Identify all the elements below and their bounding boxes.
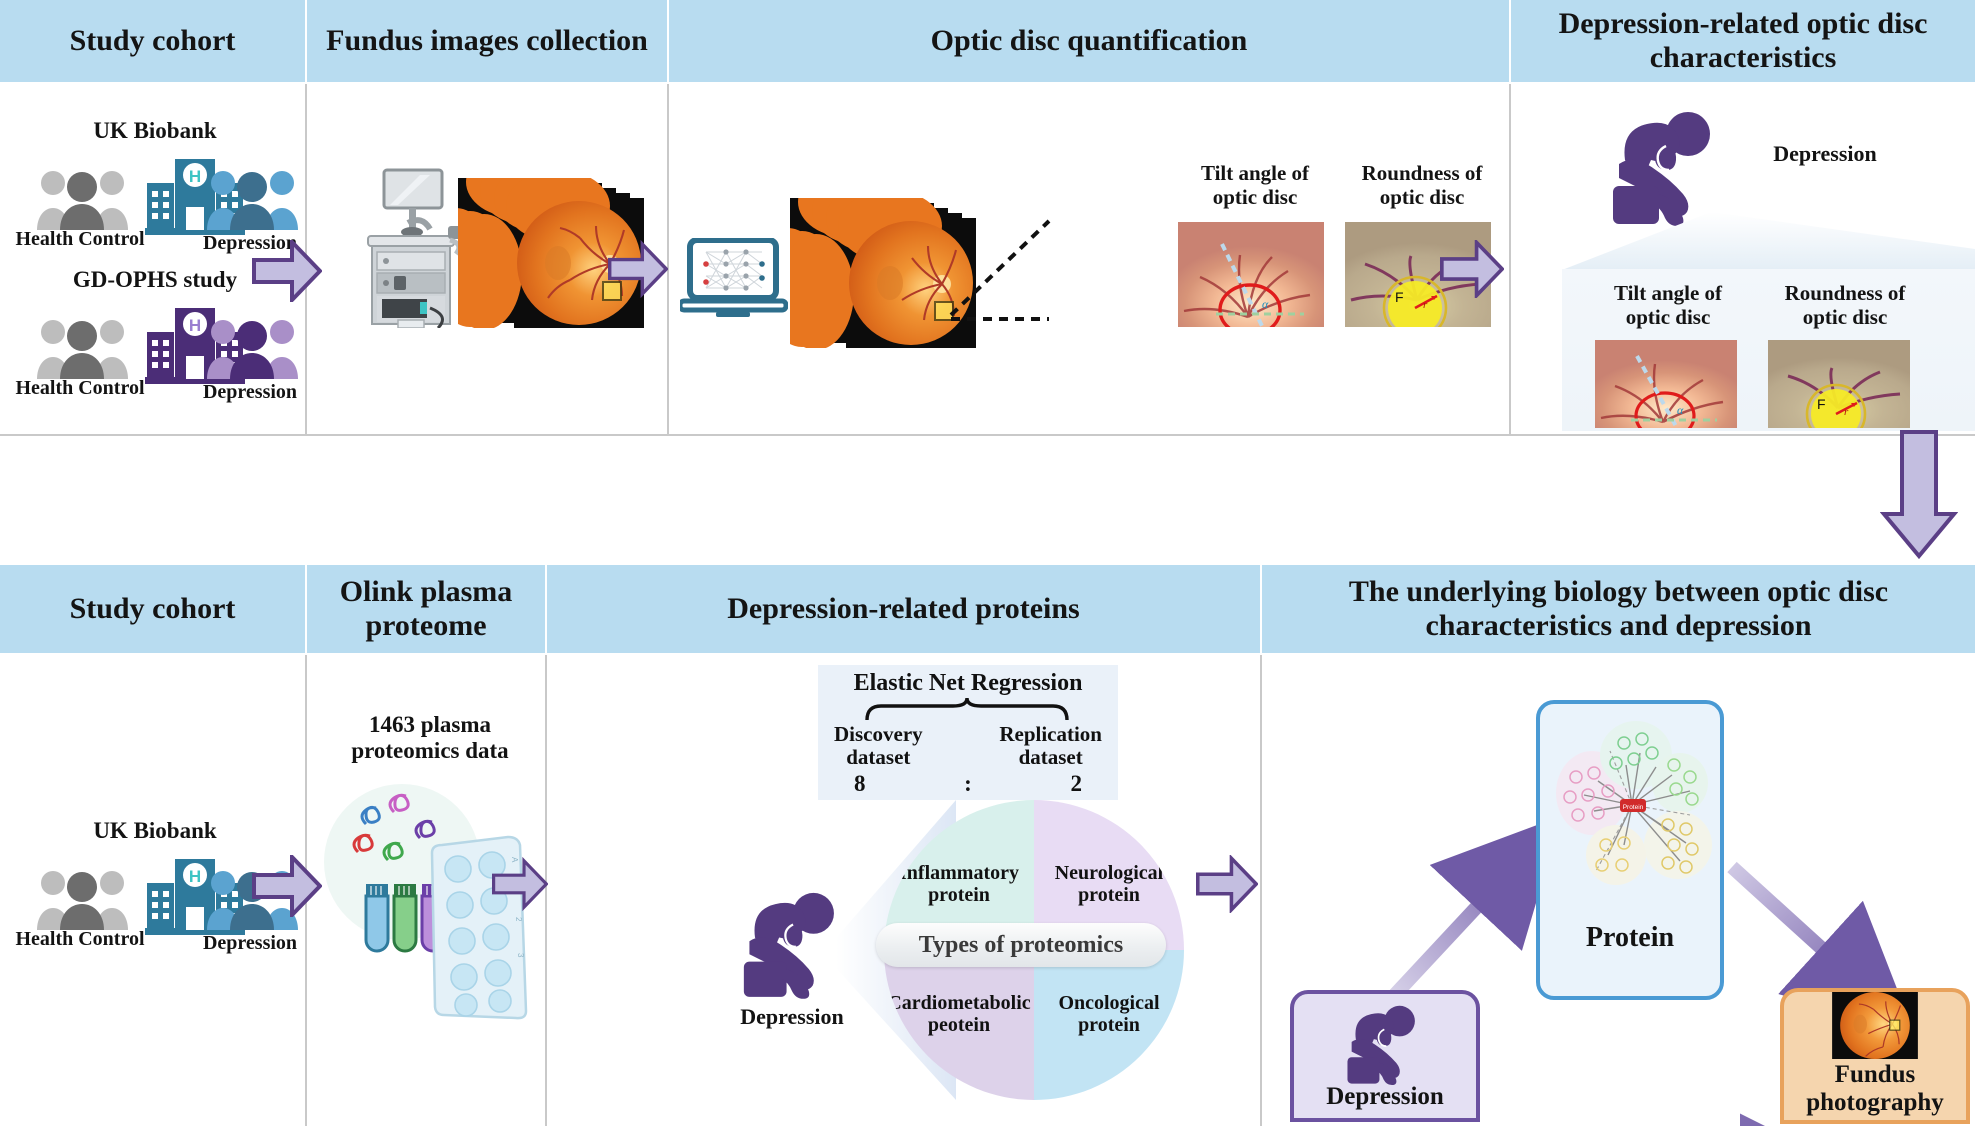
hospital-letter-gdophs: H (189, 316, 201, 335)
row1-header-depression-optic: Depression-related optic disc characteri… (1511, 0, 1975, 82)
row1-header-optic-disc-quant-label: Optic disc quantification (931, 24, 1248, 58)
depression-label-row2: Depression (185, 932, 315, 954)
roundness-radius-symbol-quant: r (1423, 299, 1428, 311)
roundness-radius-symbol-result: r (1844, 406, 1849, 418)
row2-header-depression-proteins: Depression-related proteins (547, 565, 1260, 653)
protein-hub-label: Protein (1623, 804, 1644, 811)
row2-header-olink-label: Olink plasma proteome (315, 575, 537, 642)
hospital-letter-ukb: H (189, 167, 201, 186)
tilt-angle-symbol-result: α (1677, 403, 1684, 417)
discovery-dataset-label: Discovery dataset (834, 723, 923, 768)
protein-box-label: Protein (1586, 923, 1674, 954)
gdophs-title: GD-OPHS study (20, 267, 290, 293)
uk-biobank-title-row2: UK Biobank (20, 818, 290, 844)
tilt-angle-image-quant: α (1178, 222, 1324, 327)
divider-r1-bottom (0, 434, 1975, 436)
protein-network-box: Protein Protein (1536, 700, 1724, 1000)
tilt-angle-label-result: Tilt angle of optic disc (1588, 282, 1748, 329)
health-control-label-ukb: Health Control (5, 228, 155, 250)
depression-label-gdophs: Depression (185, 381, 315, 403)
row1-header-study-cohort-label: Study cohort (70, 24, 236, 58)
depression-people-icon-gdophs (205, 317, 300, 379)
tilt-angle-label-quant: Tilt angle of optic disc (1180, 162, 1330, 209)
row1-header-fundus-collection: Fundus images collection (307, 0, 667, 82)
ai-laptop-icon (680, 238, 788, 328)
discovery-dataset-value: 8 (854, 771, 866, 797)
arrow-proteins-to-biology (1196, 855, 1258, 918)
svg-text:3: 3 (516, 953, 525, 958)
arrow-row1-to-row2 (1880, 430, 1958, 565)
roundness-symbol-quant: F (1395, 289, 1404, 305)
zoom-callout-lines (945, 215, 1055, 330)
arrow-quant-to-result (1440, 240, 1504, 303)
uk-biobank-title: UK Biobank (20, 118, 290, 144)
roundness-image-result: F r (1768, 340, 1910, 428)
row2-header-study-cohort-label: Study cohort (70, 592, 236, 626)
elastic-net-title: Elastic Net Regression (818, 670, 1118, 697)
replication-dataset-label: Replication dataset (999, 723, 1102, 768)
row2-header-study-cohort: Study cohort (0, 565, 305, 653)
hospital-letter-row2: H (189, 867, 201, 886)
depression-people-icon-ukb (205, 168, 300, 230)
health-control-label-gdophs: Health Control (5, 377, 155, 399)
arrow-cohort-to-olink (252, 855, 322, 922)
types-of-proteomics-pill: Types of proteomics (876, 923, 1166, 967)
depression-box-label: Depression (1326, 1083, 1444, 1111)
row1-header-optic-disc-quant: Optic disc quantification (669, 0, 1509, 82)
health-control-people-icon-gdophs (35, 317, 130, 379)
depression-label-proteins: Depression (712, 1005, 872, 1030)
health-control-people-icon-row2 (35, 868, 130, 930)
quadrant-label-cardiometabolic: Cardiometabolic peotein (884, 992, 1034, 1037)
divider-r1-3 (1509, 84, 1511, 434)
row1-header-depression-optic-label: Depression-related optic disc characteri… (1519, 7, 1967, 74)
depression-figure-row2 (742, 888, 846, 1005)
row2-header-underlying-biology: The underlying biology between optic dis… (1262, 565, 1975, 653)
quadrant-label-neurological: Neurological protein (1036, 862, 1182, 907)
figure-root: Study cohort Fundus images collection Op… (0, 0, 1975, 1126)
roundness-symbol-result: F (1817, 396, 1826, 412)
dataset-ratio-separator: : (964, 771, 972, 797)
quadrant-label-inflammatory: Inflammatory protein (886, 862, 1032, 907)
row2-header-depression-proteins-label: Depression-related proteins (727, 592, 1080, 626)
fundus-photography-box: Fundus photography (1780, 988, 1970, 1124)
elastic-net-box: Elastic Net Regression Discovery dataset… (818, 665, 1118, 800)
arrow-cohort-to-fundus (252, 240, 322, 307)
tilt-angle-image-result: α (1595, 340, 1737, 428)
row2-header-olink: Olink plasma proteome (307, 565, 545, 653)
health-control-people-icon-ukb (35, 168, 130, 230)
quadrant-label-oncological: Oncological protein (1036, 992, 1182, 1037)
row1-header-fundus-collection-label: Fundus images collection (326, 24, 648, 58)
health-control-label-row2: Health Control (5, 928, 155, 950)
depression-label-row1-result: Depression (1740, 142, 1910, 167)
tilt-angle-symbol-quant: α (1262, 297, 1269, 311)
row2-header-underlying-biology-label: The underlying biology between optic dis… (1270, 575, 1967, 642)
depression-result-box: Depression (1290, 990, 1480, 1122)
replication-dataset-value: 2 (1070, 771, 1082, 797)
fundus-photography-box-label: Fundus photography (1806, 1061, 1944, 1116)
row1-header-study-cohort: Study cohort (0, 0, 305, 82)
depression-figure-row1 (1611, 108, 1723, 231)
arrow-olink-to-proteins (492, 855, 548, 918)
olink-caption: 1463 plasma proteomics data (330, 712, 530, 764)
arrow-fundus-to-quant (608, 240, 668, 303)
roundness-label-quant: Roundness of optic disc (1342, 162, 1502, 209)
roundness-label-result: Roundness of optic disc (1760, 282, 1930, 329)
